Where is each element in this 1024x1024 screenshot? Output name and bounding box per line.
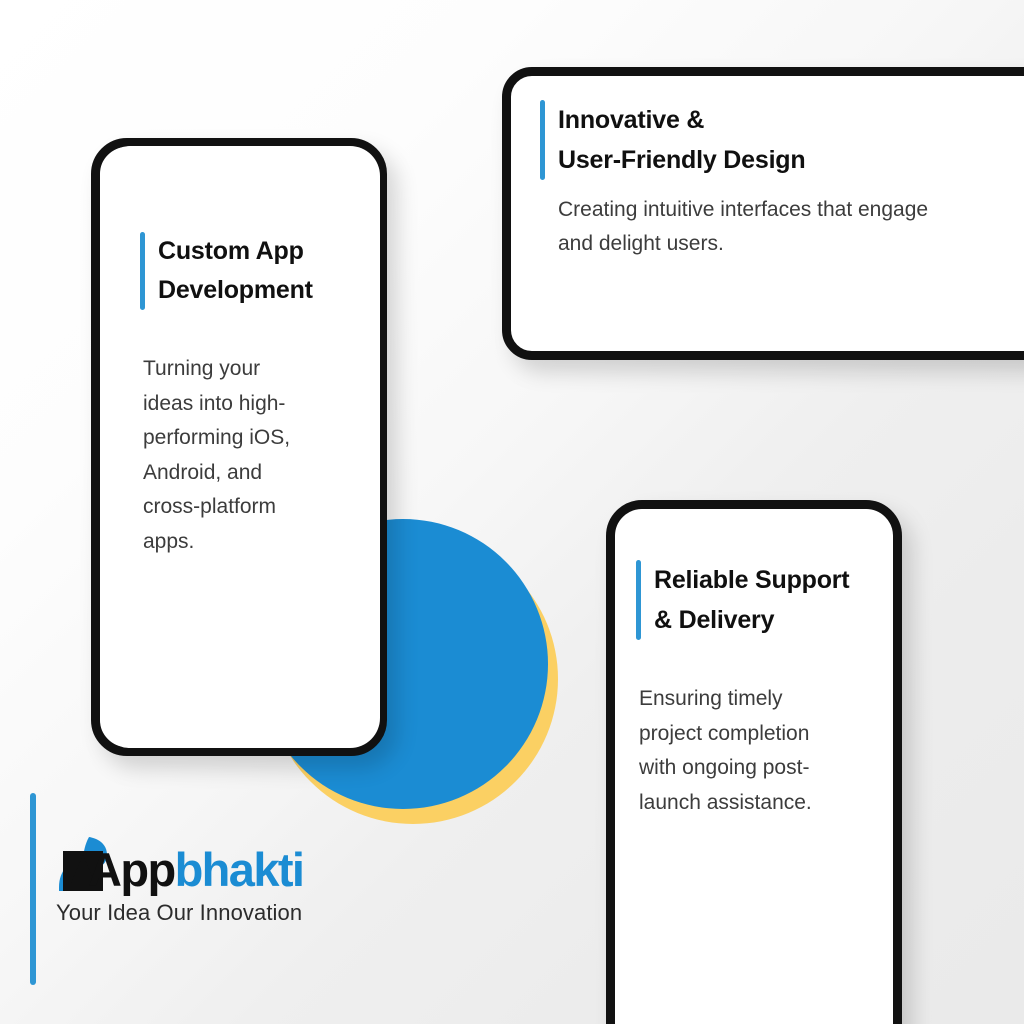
card-body-line: ideas into high- xyxy=(143,387,350,422)
card-body-line: Ensuring timely xyxy=(639,682,886,717)
card-custom-app-development[interactable]: Custom App Development Turning your idea… xyxy=(140,232,350,559)
card-title: Reliable Support & Delivery xyxy=(654,560,849,640)
brand-lockup[interactable]: Appbhakti Your Idea Our Innovation xyxy=(30,793,303,985)
accent-bar-icon xyxy=(636,560,641,640)
card-title: Custom App Development xyxy=(158,232,313,310)
card-body-line: apps. xyxy=(143,525,350,560)
logo-row: Appbhakti xyxy=(55,837,303,893)
card-title-line: Development xyxy=(158,271,313,310)
card-title: Innovative & User-Friendly Design xyxy=(558,100,805,180)
card-reliable-support-delivery[interactable]: Reliable Support & Delivery Ensuring tim… xyxy=(636,560,886,820)
brand-accent-rule-icon xyxy=(30,793,36,985)
card-title-line: Reliable Support xyxy=(654,560,849,600)
brand-wordmark: Appbhakti xyxy=(88,846,303,893)
card-title-line: Custom App xyxy=(158,232,313,271)
brand-inner: Appbhakti Your Idea Our Innovation xyxy=(55,793,303,985)
card-title-line: User-Friendly Design xyxy=(558,140,805,180)
card-body-line: Creating intuitive interfaces that engag… xyxy=(558,193,1010,227)
brand-word-dark: App xyxy=(88,843,175,896)
card-heading-block: Reliable Support & Delivery xyxy=(636,560,886,640)
card-body: Turning your ideas into high- performing… xyxy=(143,352,350,559)
card-body-line: launch assistance. xyxy=(639,786,886,821)
card-body-line: with ongoing post- xyxy=(639,751,886,786)
accent-bar-icon xyxy=(540,100,545,180)
card-innovative-user-friendly-design[interactable]: Innovative & User-Friendly Design Creati… xyxy=(540,100,1010,261)
card-title-line: Innovative & xyxy=(558,100,805,140)
card-heading-block: Custom App Development xyxy=(140,232,350,310)
brand-word-blue: bhakti xyxy=(175,843,304,896)
card-title-line: & Delivery xyxy=(654,600,849,640)
card-body-line: cross-platform xyxy=(143,490,350,525)
card-heading-block: Innovative & User-Friendly Design xyxy=(540,100,1010,180)
card-body-line: and delight users. xyxy=(558,227,1010,261)
card-body: Creating intuitive interfaces that engag… xyxy=(558,193,1010,261)
card-body-line: Turning your xyxy=(143,352,350,387)
brand-tagline: Your Idea Our Innovation xyxy=(56,900,303,926)
poster-canvas: Custom App Development Turning your idea… xyxy=(0,0,1024,1024)
card-body-line: Android, and xyxy=(143,456,350,491)
card-body-line: performing iOS, xyxy=(143,421,350,456)
accent-bar-icon xyxy=(140,232,145,310)
card-body: Ensuring timely project completion with … xyxy=(639,682,886,820)
card-body-line: project completion xyxy=(639,717,886,752)
